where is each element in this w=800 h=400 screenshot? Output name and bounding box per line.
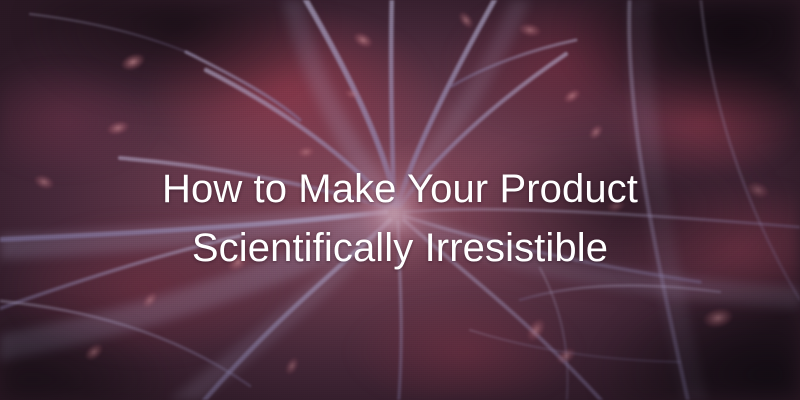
headline-line-2: Scientifically Irresistible	[192, 219, 608, 278]
headline: How to Make Your Product Scientifically …	[0, 160, 800, 278]
hero-banner: How to Make Your Product Scientifically …	[0, 0, 800, 400]
headline-line-1: How to Make Your Product	[162, 160, 638, 219]
